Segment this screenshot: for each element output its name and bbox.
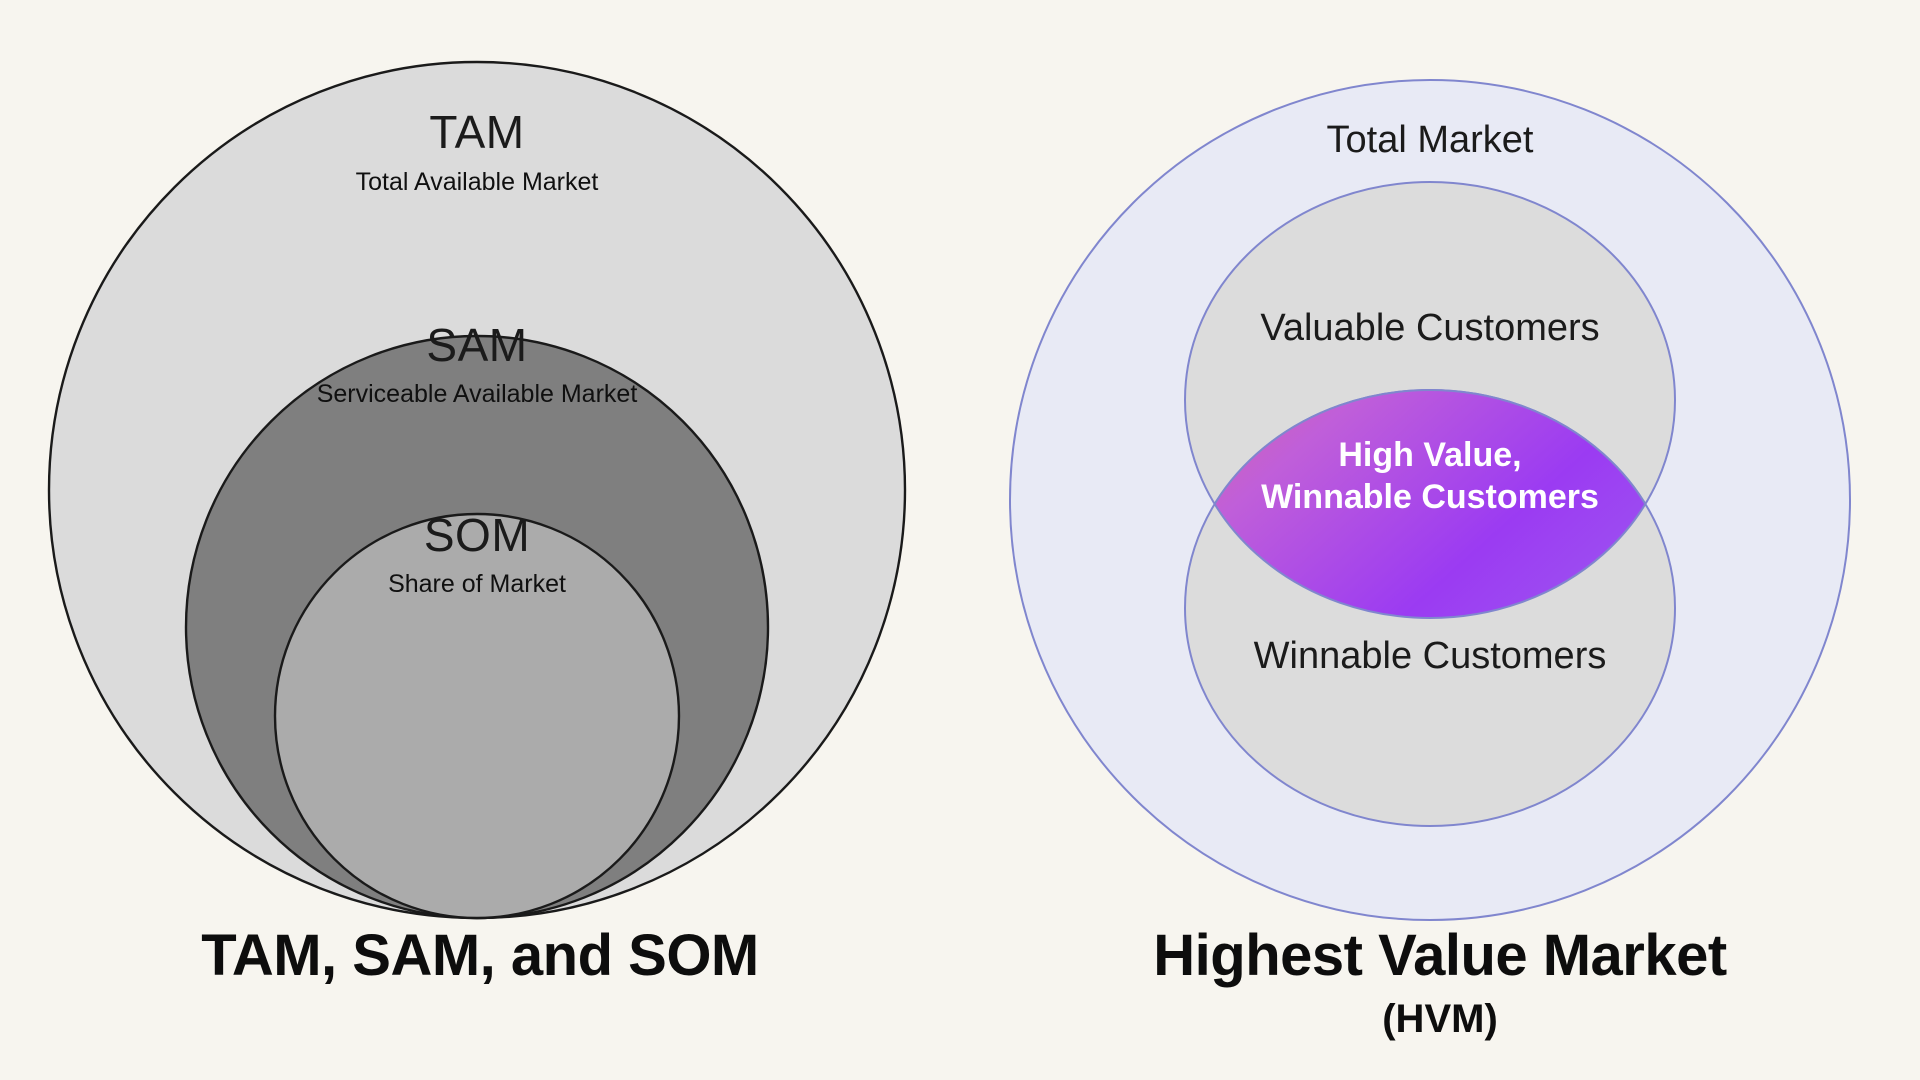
valuable-customers-label: Valuable Customers — [1260, 307, 1599, 349]
sam-title: SAM — [426, 319, 527, 371]
right-diagram-caption-sub: (HVM) — [960, 997, 1920, 1042]
highest-value-market-svg: Total Market Valuable Customers High Val… — [960, 0, 1920, 1080]
som-title: SOM — [424, 509, 530, 561]
right-diagram-caption: Highest Value Market — [960, 925, 1920, 986]
total-market-label: Total Market — [1327, 119, 1534, 161]
tam-sam-som-svg: TAM Total Available Market SAM Serviceab… — [0, 0, 960, 1080]
intersection-label-line2: Winnable Customers — [1261, 478, 1599, 516]
tam-title: TAM — [429, 106, 524, 158]
right-diagram-panel: Total Market Valuable Customers High Val… — [960, 0, 1920, 1080]
som-subtitle: Share of Market — [388, 570, 566, 598]
left-diagram-panel: TAM Total Available Market SAM Serviceab… — [0, 0, 960, 1080]
sam-subtitle: Serviceable Available Market — [317, 380, 638, 408]
left-diagram-caption: TAM, SAM, and SOM — [0, 925, 960, 986]
winnable-customers-label: Winnable Customers — [1254, 635, 1607, 677]
diagram-canvas: TAM Total Available Market SAM Serviceab… — [0, 0, 1920, 1080]
intersection-label-line1: High Value, — [1338, 436, 1521, 474]
tam-subtitle: Total Available Market — [356, 168, 599, 196]
